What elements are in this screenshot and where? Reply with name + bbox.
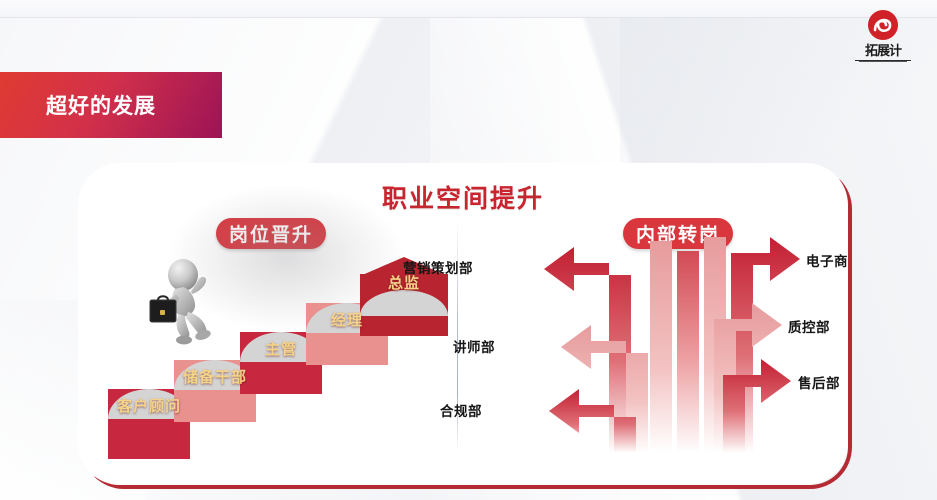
transfer-label-compliance: 合规部: [440, 400, 482, 420]
ladder-step-1[interactable]: 客户顾问: [108, 389, 190, 459]
ladder-step-1-label: 客户顾问: [108, 395, 190, 416]
ladder-step-5-label: 总监: [360, 272, 448, 293]
content-card: 职业空间提升 岗位晋升 内部转岗 客户顾问 储备干部: [78, 163, 848, 485]
ladder-step-4-label: 经理: [306, 309, 388, 330]
transfer-label-quality-control: 质控部: [788, 316, 830, 336]
slide-title-text: 超好的发展: [46, 90, 156, 120]
transfer-label-after-sales: 售后部: [798, 372, 840, 392]
transfer-label-trainer: 讲师部: [453, 336, 495, 356]
transfer-arrows-svg: [478, 223, 848, 473]
company-logo: 拓展计: [847, 8, 919, 70]
logo-underline-flourish: [855, 60, 911, 66]
top-strip: [0, 0, 937, 18]
slide-canvas: 超好的发展 拓展计 职业空间提升 岗位晋升 内部转岗: [0, 0, 937, 500]
ladder-step-3-label: 主管: [240, 338, 322, 359]
running-businessman-figure: [148, 258, 228, 350]
slide-title-banner: 超好的发展: [0, 72, 222, 138]
internal-transfer-diagram: 营销策划部 讲师部 合规部 电子商务部 质控部 售后部: [478, 223, 848, 473]
company-emblem-icon: [865, 8, 901, 44]
ladder-step-2-label: 储备干部: [174, 366, 256, 387]
transfer-label-ecommerce: 电子商务部: [806, 250, 848, 270]
career-ladder-diagram: 客户顾问 储备干部 主管 经理: [96, 243, 446, 473]
